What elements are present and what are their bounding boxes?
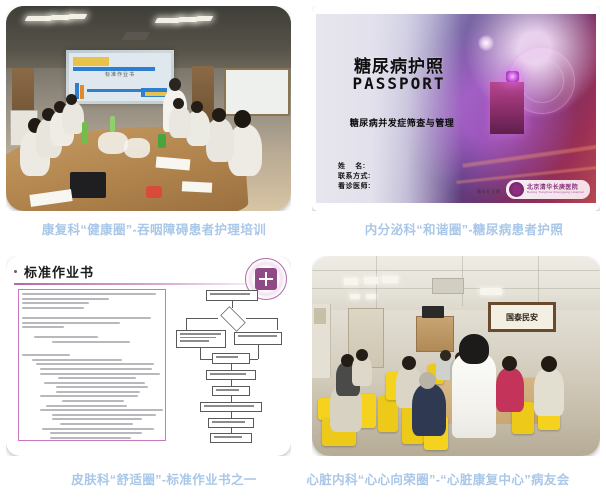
slide-subtitle: 糖尿病并发症筛查与管理 — [322, 116, 482, 129]
flow-node — [212, 353, 250, 364]
wall-cabinet — [416, 316, 454, 352]
paper-sheet — [182, 181, 212, 193]
seal-cross-icon — [255, 268, 277, 290]
ceiling-light — [480, 288, 502, 295]
calligraphy-text: 国泰民安 — [506, 312, 538, 323]
ceiling-vent — [432, 278, 464, 294]
wall-calligraphy-frame: 国泰民安 — [488, 302, 556, 332]
attendee — [169, 106, 191, 138]
flow-node — [212, 386, 250, 396]
water-bottle — [110, 116, 115, 132]
ceiling-light — [67, 14, 88, 19]
doc-title-row: 标准作业书 — [14, 262, 94, 281]
attendee — [62, 102, 84, 134]
slide-shape — [80, 85, 84, 99]
ceiling-light — [195, 16, 214, 21]
whiteboard — [224, 68, 290, 116]
attendee-head — [356, 349, 368, 361]
ceiling-light — [344, 278, 358, 285]
field-name: 姓 名: — [338, 162, 371, 172]
flow-node — [208, 418, 254, 428]
field-contact: 联系方式: — [338, 172, 371, 182]
water-bottle — [82, 122, 88, 144]
attendee-head — [502, 356, 517, 371]
attendee-head — [212, 108, 226, 122]
hospital-logo-text: 北京清华长庚医院 Beijing Tsinghua Changgung Hosp… — [527, 185, 584, 194]
sop-flowchart — [178, 290, 282, 442]
bullet-icon — [14, 270, 17, 273]
slide-shape — [87, 89, 145, 92]
attendee-head — [173, 98, 184, 109]
wall-monitor — [422, 306, 444, 318]
wall-notice — [314, 308, 326, 324]
hospital-name-en: Beijing Tsinghua Changgung Hospital — [527, 191, 584, 194]
projected-slide: 标准作业书 — [69, 53, 171, 101]
doc-title: 标准作业书 — [24, 262, 94, 281]
caption-row-top: 康复科“健康圈”-吞咽障碍患者护理培训 内分泌科“和谐圈”-糖尿病患者护照 — [0, 219, 606, 241]
photo-frame: 标准作业书 — [6, 6, 291, 211]
flow-node — [176, 330, 226, 348]
hospital-emblem-icon — [509, 182, 524, 197]
attendee — [534, 368, 564, 416]
projected-slide-title: 标准作业书 — [69, 71, 171, 78]
slide-shape — [145, 92, 167, 96]
slide-canvas: 糖尿病护照 PASSPORT 糖尿病并发症筛查与管理 姓 名: 联系方式: 看诊… — [316, 14, 596, 203]
ceiling-light — [350, 294, 360, 299]
ceiling-light — [364, 277, 378, 284]
attendee-head — [234, 110, 251, 128]
image-grid: 标准作业书 — [0, 0, 606, 501]
attendee — [496, 368, 524, 412]
nurse-presenter-body — [452, 352, 496, 438]
attendee-head — [419, 372, 436, 389]
flow-decision-node — [220, 306, 245, 331]
caption-diabetes-passport: 内分泌科“和谐圈”-糖尿病患者护照 — [330, 219, 598, 238]
caption-row-bottom: 皮肤科“舒适圈”-标准作业书之一 心脏内科“心心向荣圈”-“心脏康复中心”病友会 — [0, 469, 606, 491]
ceiling-vent — [122, 32, 150, 40]
nurse-presenter-head — [459, 334, 489, 364]
slide-diabetes-passport[interactable]: 糖尿病护照 PASSPORT 糖尿病并发症筛查与管理 姓 名: 联系方式: 看诊… — [312, 6, 600, 211]
slide-shape — [73, 57, 109, 66]
attendee-head — [541, 356, 557, 372]
ceiling-light — [382, 276, 398, 283]
caption-cardiac-meeting: 心脏内科“心心向荣圈”-“心脏康复中心”病友会 — [272, 469, 604, 488]
flow-node — [200, 402, 262, 412]
attendee-head — [402, 356, 416, 370]
projector-screen: 标准作业书 — [66, 50, 174, 104]
attendee-head — [440, 350, 451, 361]
slide-version-note: 版本号 日期 — [477, 189, 500, 195]
title-underline — [14, 283, 276, 285]
chair — [378, 396, 398, 432]
attendee — [412, 384, 446, 436]
flow-node — [234, 332, 282, 345]
photo-rehab-training[interactable]: 标准作业书 — [6, 6, 291, 211]
building-tower — [490, 82, 524, 134]
photo-cardiac-patient-meeting[interactable]: 国泰民安 — [312, 256, 600, 456]
patient-fields: 姓 名: 联系方式: 看诊医师: — [338, 162, 371, 192]
slide-frame: 糖尿病护照 PASSPORT 糖尿病并发症筛查与管理 姓 名: 联系方式: 看诊… — [312, 6, 600, 211]
attendee-head — [191, 101, 203, 113]
tower-beacon — [506, 71, 519, 82]
drink-can — [158, 134, 166, 148]
flow-node — [206, 370, 256, 380]
slide-title-en: PASSPORT — [324, 74, 474, 93]
field-physician: 看诊医师: — [338, 182, 371, 192]
photo-frame: 国泰民安 — [312, 256, 600, 456]
slide-sop-document[interactable]: 标准作业书 — [6, 256, 291, 456]
flow-node — [210, 433, 252, 443]
caption-sop-document: 皮肤科“舒适圈”-标准作业书之一 — [38, 469, 290, 488]
flow-node — [206, 290, 258, 301]
sop-text-block — [18, 289, 166, 441]
attendee — [206, 118, 234, 162]
attendee-head — [66, 94, 77, 105]
table-supplies — [124, 138, 150, 158]
caption-rehab-training: 康复科“健康圈”-吞咽障碍患者护理培训 — [14, 219, 294, 238]
ceiling-light — [366, 294, 376, 299]
snack-item — [146, 186, 162, 198]
presenter-head — [169, 78, 181, 91]
laptop — [70, 172, 106, 198]
slide-frame: 标准作业书 — [6, 256, 291, 456]
hospital-logo: 北京清华长庚医院 Beijing Tsinghua Changgung Hosp… — [506, 180, 590, 199]
